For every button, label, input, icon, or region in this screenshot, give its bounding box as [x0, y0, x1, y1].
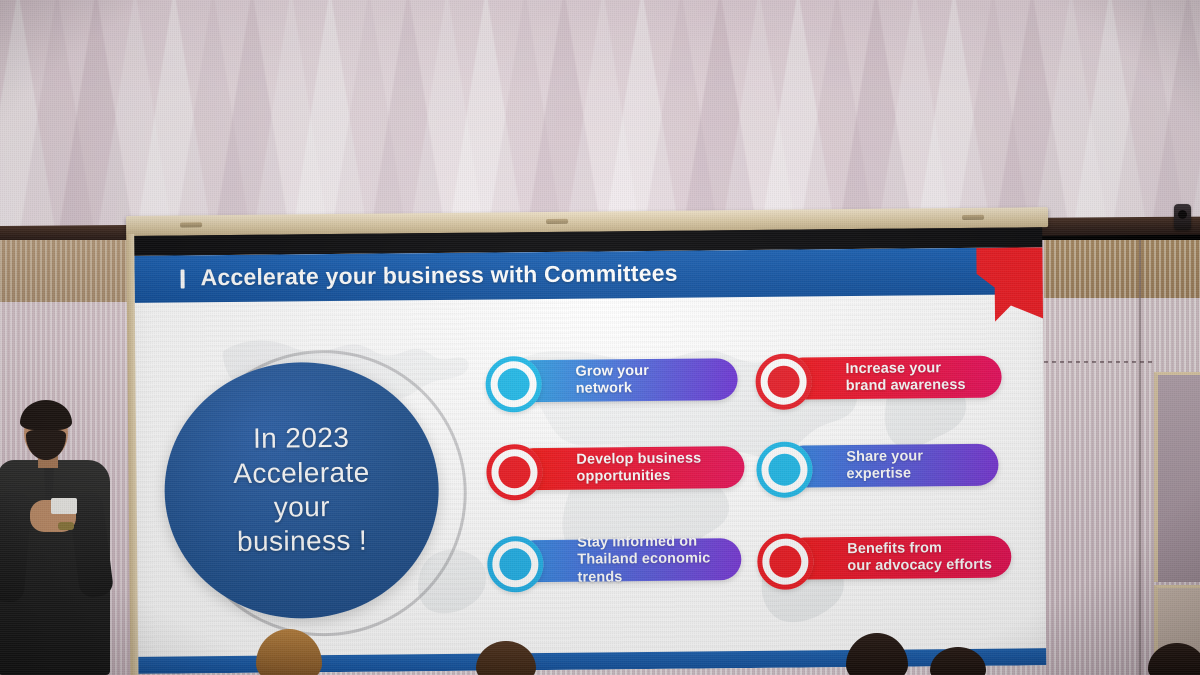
housing-label-left	[180, 222, 202, 227]
audience-head	[846, 633, 908, 675]
slide-title: Accelerate your business with Committees	[200, 260, 677, 292]
benefit-item-stay-informed-thailand-economic-trends[interactable]: Stay informed onThailand economictrends	[487, 534, 745, 586]
red-target-ring-icon	[757, 533, 814, 590]
benefit-pill-increase-your-brand-awareness: Increase yourbrand awareness	[781, 356, 1001, 400]
right-wall-door-panel-upper	[1154, 372, 1200, 582]
cyan-target-ring-icon	[485, 356, 542, 413]
benefit-item-grow-your-network[interactable]: Grow yournetwork	[485, 354, 741, 406]
housing-label-center	[546, 219, 568, 224]
benefit-label-benefits-from-our-advocacy-efforts: Benefits fromour advocacy efforts	[783, 539, 1008, 576]
audience-head	[256, 629, 322, 675]
red-target-ring-icon	[486, 444, 543, 501]
audience-head	[930, 647, 986, 675]
benefit-item-develop-business-opportunities[interactable]: Develop businessopportunities	[486, 442, 748, 495]
cyan-target-ring-icon	[487, 536, 544, 593]
red-target-ring-icon	[755, 353, 812, 410]
benefit-pill-share-your-expertise: Share yourexpertise	[782, 444, 998, 488]
benefit-item-increase-your-brand-awareness[interactable]: Increase yourbrand awareness	[755, 352, 1005, 404]
benefit-pill-benefits-from-our-advocacy-efforts: Benefits fromour advocacy efforts	[783, 536, 1011, 580]
audience-head	[1148, 643, 1200, 675]
presenter-hair	[20, 400, 72, 430]
benefit-pill-stay-informed-thailand-economic-trends: Stay informed onThailand economictrends	[513, 538, 741, 582]
header-tick-mark	[181, 269, 185, 288]
benefit-item-share-your-expertise[interactable]: Share yourexpertise	[756, 440, 1002, 492]
wall-sheen	[0, 0, 1200, 232]
cyan-target-ring-icon	[756, 441, 813, 498]
presenter-held-paper	[51, 498, 77, 514]
benefit-label-stay-informed-thailand-economic-trends: Stay informed onThailand economictrends	[513, 533, 727, 587]
benefit-pill-develop-business-opportunities: Develop businessopportunities	[512, 446, 744, 490]
presentation-photo-scene: Accelerate your business with Committees…	[0, 0, 1200, 675]
audience-silhouettes	[0, 605, 1200, 675]
housing-label-right	[962, 215, 984, 220]
center-circle: In 2023Accelerateyourbusiness !	[163, 361, 439, 620]
slide-header-bar: Accelerate your business with Committees	[134, 247, 1042, 303]
presenter-beard	[26, 430, 66, 460]
benefit-pill-grow-your-network: Grow yournetwork	[511, 358, 737, 402]
upper-wall-drapery	[0, 0, 1200, 232]
benefit-item-benefits-from-our-advocacy-efforts[interactable]: Benefits fromour advocacy efforts	[757, 531, 1015, 583]
center-circle-text: In 2023Accelerateyourbusiness !	[233, 421, 371, 560]
right-wall-dotted-line	[1044, 361, 1152, 363]
benefit-label-develop-business-opportunities: Develop businessopportunities	[512, 450, 717, 486]
red-ribbon-accent-icon	[958, 247, 1045, 334]
ceiling-speaker-icon	[1174, 204, 1191, 230]
audience-head	[476, 641, 536, 675]
presenter-wristwatch	[58, 522, 74, 530]
